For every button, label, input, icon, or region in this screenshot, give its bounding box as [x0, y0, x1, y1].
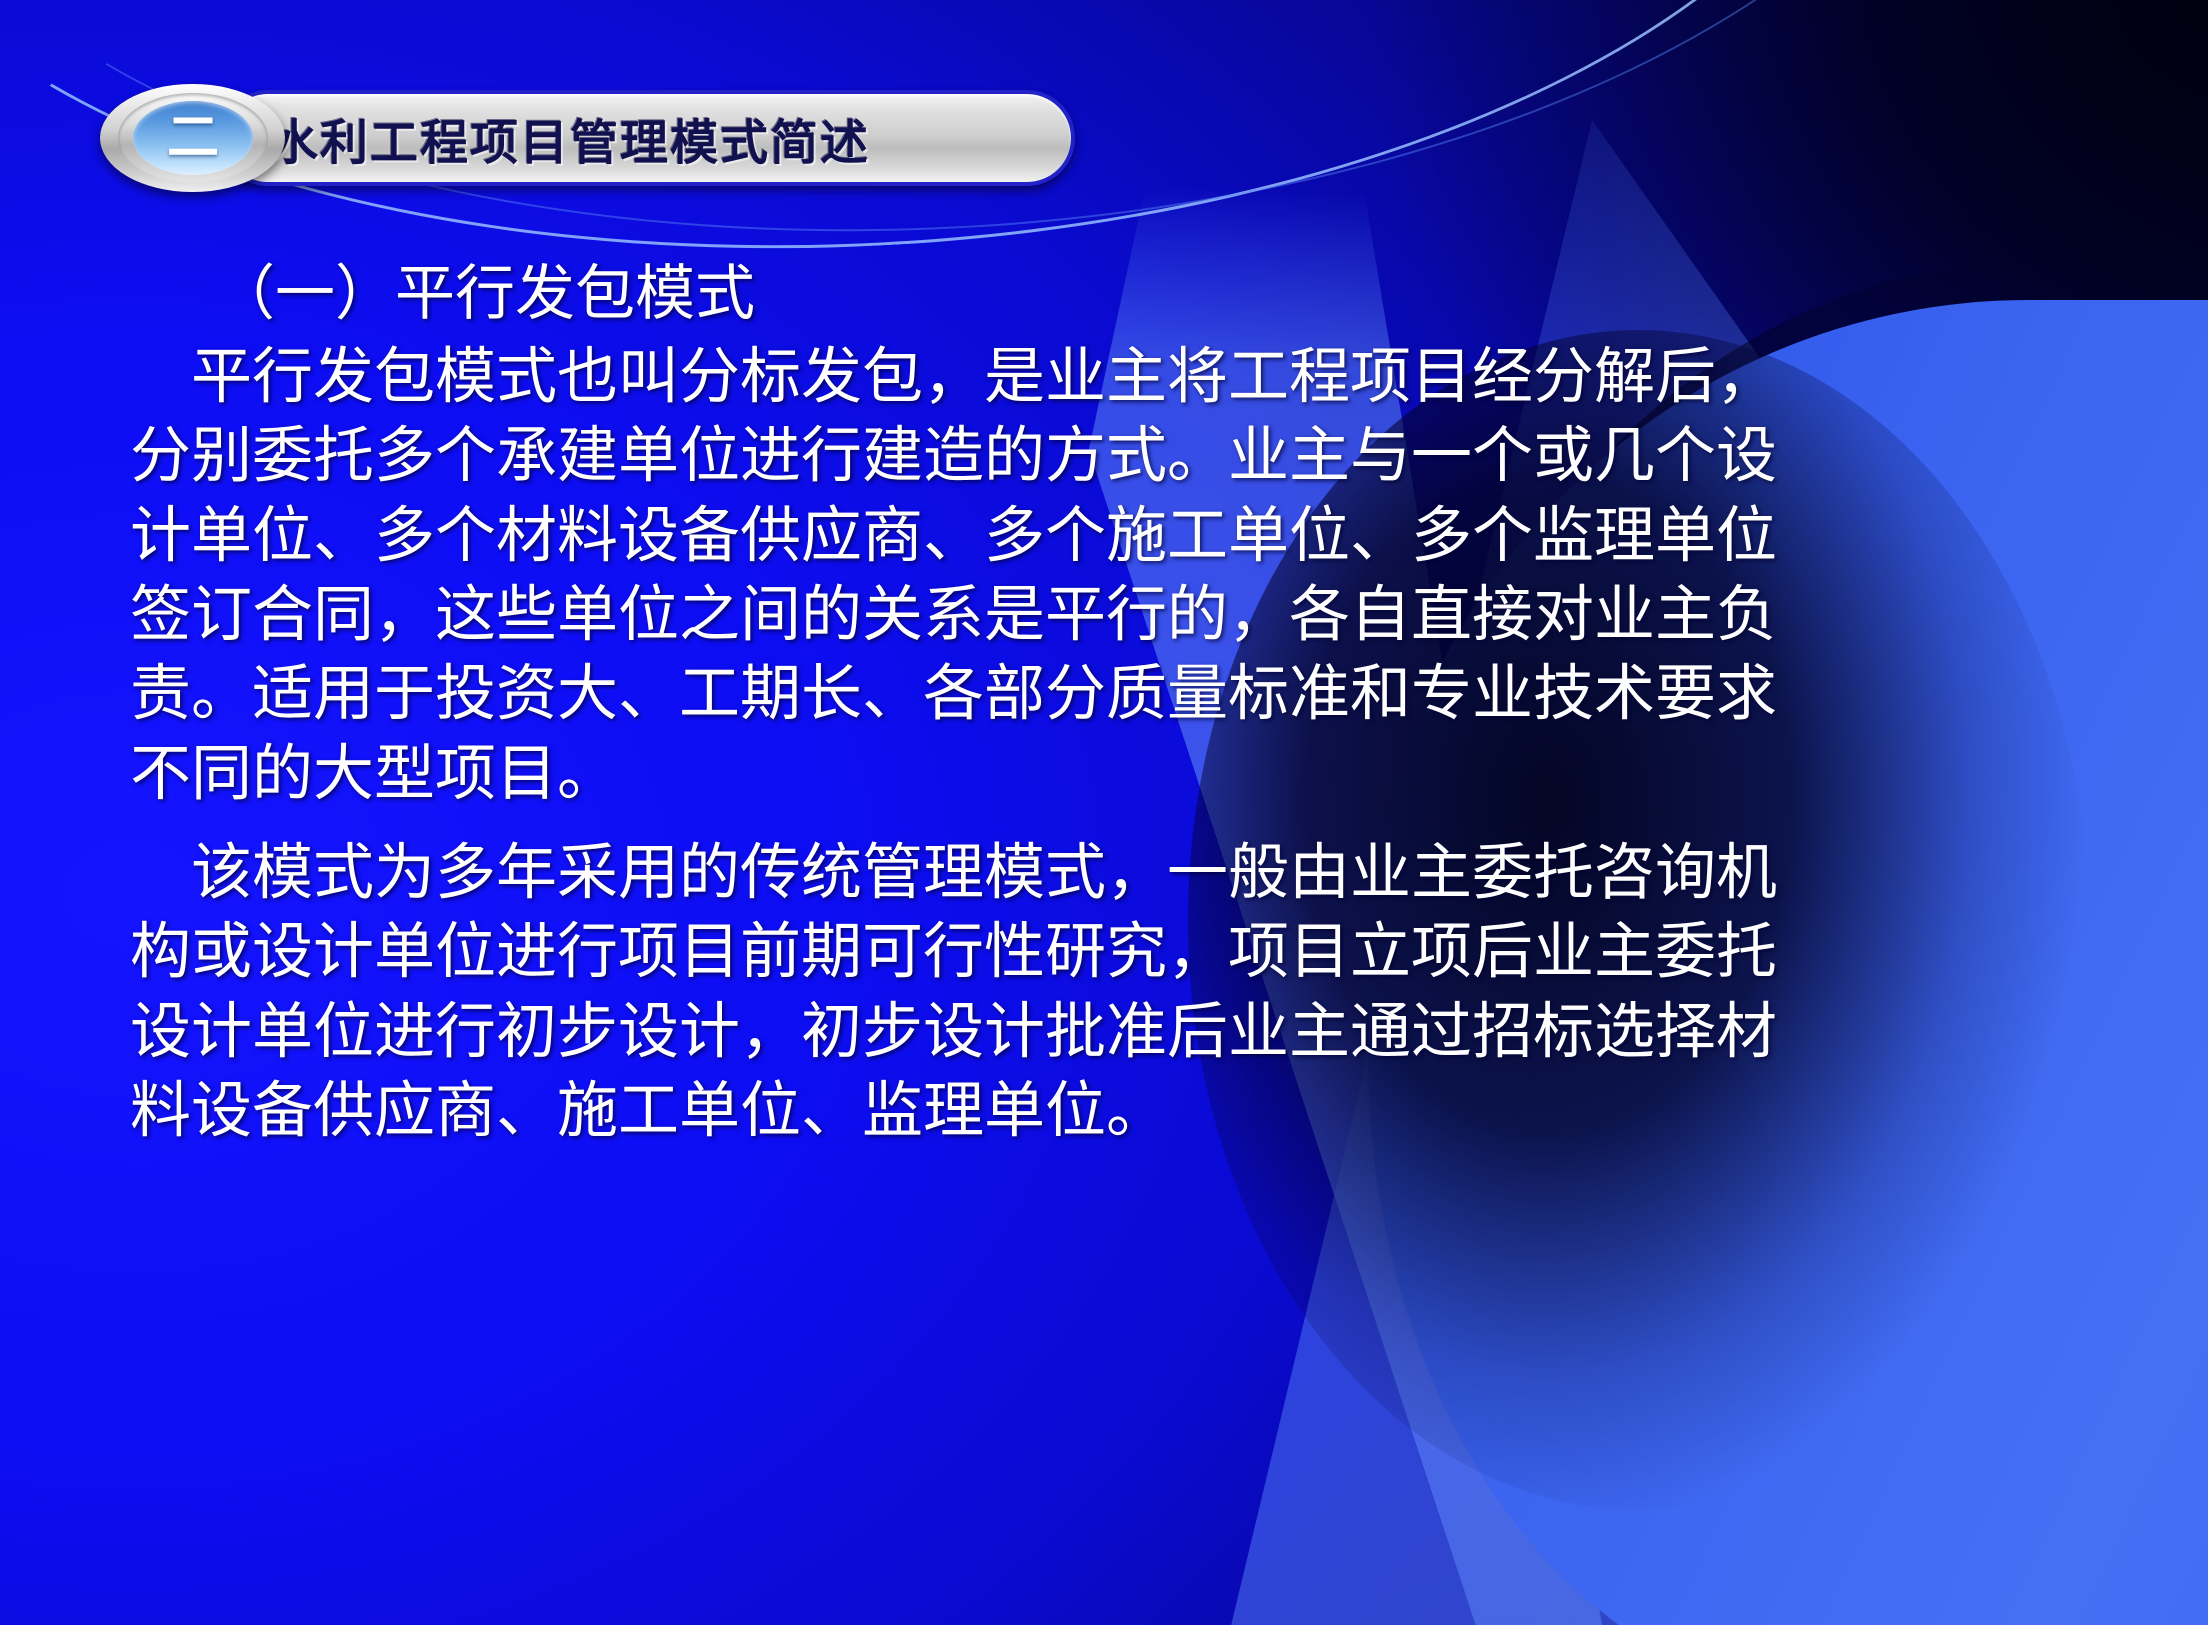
page-title: 水利工程项目管理模式简述: [270, 103, 870, 173]
paragraph-1: 平行发包模式也叫分标发包，是业主将工程项目经分解后， 分别委托多个承建单位进行建…: [0, 337, 2208, 813]
slide-body: （一）平行发包模式 平行发包模式也叫分标发包，是业主将工程项目经分解后， 分别委…: [0, 258, 2208, 1150]
paragraph-line: 计单位、多个材料设备供应商、多个施工单位、多个监理单位: [130, 496, 2078, 575]
slide-header: 水利工程项目管理模式简述 二: [100, 84, 1075, 192]
slide-canvas: 水利工程项目管理模式简述 二 （一）平行发包模式 平行发包模式也叫分标发包，是业…: [0, 0, 2208, 1625]
paragraph-line: 设计单位进行初步设计，初步设计批准后业主通过招标选择材: [130, 992, 2078, 1071]
paragraph-line: 签订合同，这些单位之间的关系是平行的，各自直接对业主负: [130, 575, 2078, 654]
paragraph-2: 该模式为多年采用的传统管理模式，一般由业主委托咨询机 构或设计单位进行项目前期可…: [0, 833, 2208, 1150]
paragraph-line: 该模式为多年采用的传统管理模式，一般由业主委托咨询机: [130, 833, 2078, 912]
badge-number-label: 二: [167, 112, 219, 164]
paragraph-line: 构或设计单位进行项目前期可行性研究，项目立项后业主委托: [130, 912, 2078, 991]
paragraph-line: 不同的大型项目。: [130, 734, 2078, 813]
paragraph-line: 平行发包模式也叫分标发包，是业主将工程项目经分解后，: [130, 337, 2078, 416]
badge-disc: 二: [133, 101, 253, 175]
paragraph-line: 料设备供应商、施工单位、监理单位。: [130, 1071, 2078, 1150]
section-number-badge-icon: 二: [100, 84, 285, 192]
paragraph-line: 分别委托多个承建单位进行建造的方式。业主与一个或几个设: [130, 416, 2078, 495]
slide-title-bar: 水利工程项目管理模式简述: [220, 90, 1075, 186]
paragraph-line: 责。适用于投资大、工期长、各部分质量标准和专业技术要求: [130, 654, 2078, 733]
section-heading: （一）平行发包模式: [0, 258, 2208, 331]
